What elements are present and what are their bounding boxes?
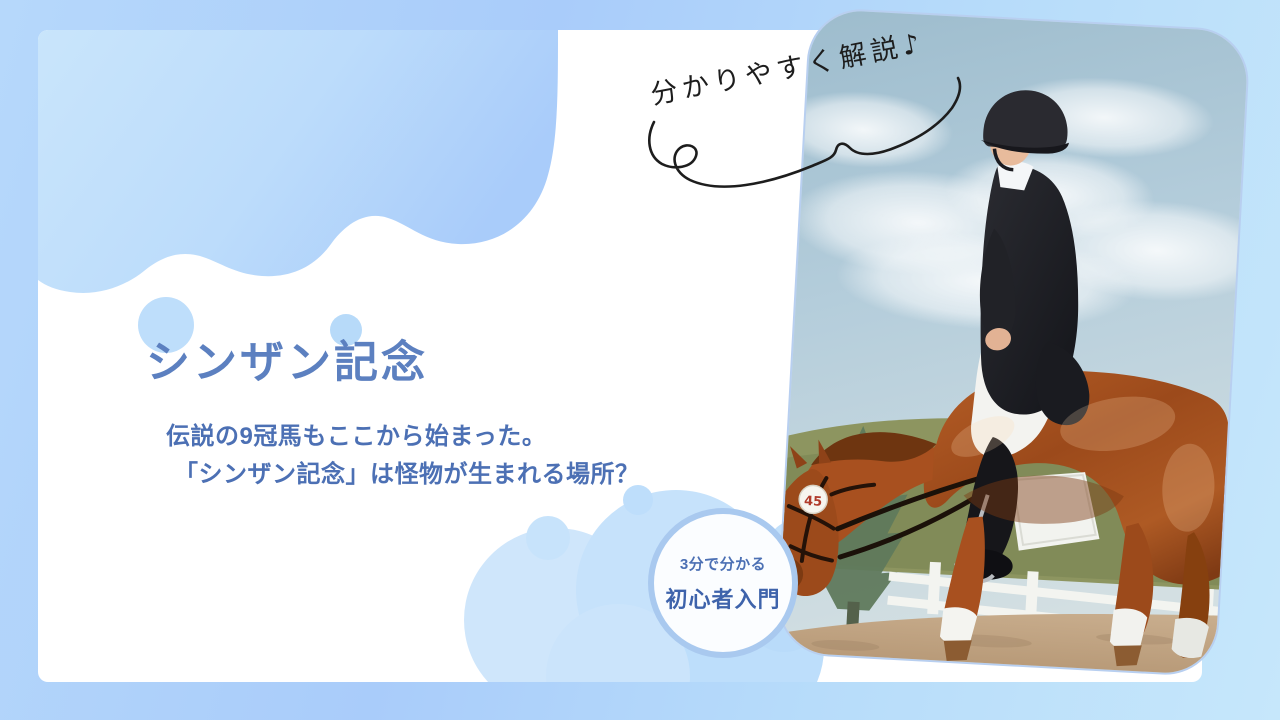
bridle-number: 45 xyxy=(804,494,823,510)
badge-top-label: 3分で分かる xyxy=(680,553,766,574)
hero-photo-frame: 45 xyxy=(775,7,1251,678)
slide-canvas: シンザン記念 伝説の9冠馬もここから始まった。 「シンザン記念」は怪物が生まれる… xyxy=(0,0,1280,720)
subtitle-line-1: 伝説の9冠馬もここから始まった。 xyxy=(166,423,546,450)
beginner-guide-badge: 3分で分かる 初心者入門 xyxy=(648,508,798,658)
page-title: シンザン記念 xyxy=(146,326,428,390)
subtitle-block: 伝説の9冠馬もここから始まった。 「シンザン記念」は怪物が生まれる場所？ xyxy=(166,418,640,495)
badge-bottom-label: 初心者入門 xyxy=(665,582,780,614)
subtitle-line-2: 「シンザン記念」は怪物が生まれる場所？ xyxy=(166,456,640,494)
horse-and-rider-photo: 45 xyxy=(775,7,1251,678)
